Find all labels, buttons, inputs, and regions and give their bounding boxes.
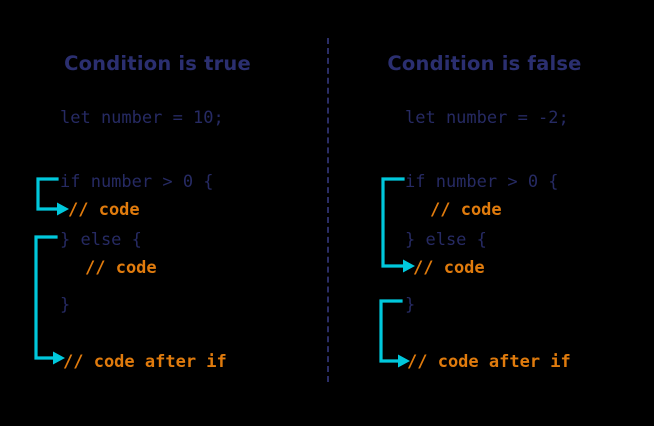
code-line-else-body-comment: // code [85, 260, 157, 277]
arrow-taken-branch [32, 176, 74, 218]
code-line-after-if-comment: // code after if [63, 354, 227, 371]
code-line-if: if number > 0 { [60, 174, 214, 191]
panel-title-condition-false: Condition is false [321, 52, 648, 75]
panel-title-condition-true: Condition is true [0, 52, 321, 75]
arrow-skip-else [30, 234, 72, 366]
code-line-if: if number > 0 { [405, 174, 559, 191]
panel-condition-true: Condition is true let number = 10; if nu… [0, 0, 327, 426]
code-line-declaration: let number = 10; [60, 110, 224, 127]
arrow-continue-after-if [375, 298, 419, 372]
code-line-else-body-comment: // code [413, 260, 485, 277]
code-line-if-body-comment: // code [430, 202, 502, 219]
code-line-else: } else { [60, 232, 142, 249]
diagram-canvas: Condition is true let number = 10; if nu… [0, 0, 654, 426]
panel-condition-false: Condition is false let number = -2; if n… [327, 0, 654, 426]
arrow-skip-to-else [377, 176, 421, 276]
code-line-after-if-comment: // code after if [407, 354, 571, 371]
code-line-if-body-comment: // code [68, 202, 140, 219]
code-line-declaration: let number = -2; [405, 110, 569, 127]
